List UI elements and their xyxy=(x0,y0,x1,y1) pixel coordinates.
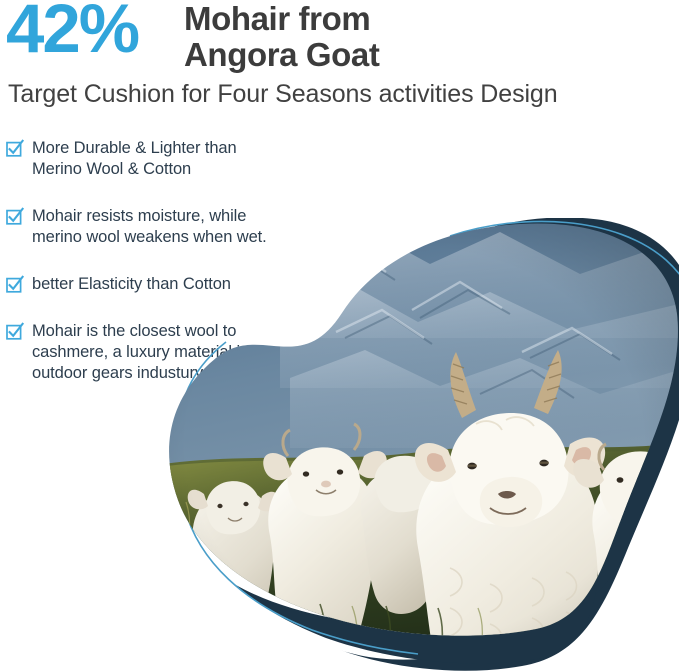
checkbox-checked-icon xyxy=(6,208,23,225)
checkbox-checked-icon xyxy=(6,140,23,157)
headline-line-1: Mohair from xyxy=(184,0,370,37)
page-title: Mohair from Angora Goat xyxy=(184,1,379,73)
checkbox-checked-icon xyxy=(6,276,23,293)
percent-value: 42% xyxy=(6,0,138,63)
headline-line-2: Angora Goat xyxy=(184,37,379,73)
checkbox-checked-icon xyxy=(6,323,23,340)
list-item: More Durable & Lighter than Merino Wool … xyxy=(6,138,336,180)
subtitle: Target Cushion for Four Seasons activiti… xyxy=(8,80,558,109)
header: 42% Mohair from Angora Goat xyxy=(0,0,679,76)
list-item-label: More Durable & Lighter than Merino Wool … xyxy=(32,139,237,178)
goat-photo-artwork xyxy=(150,218,679,671)
